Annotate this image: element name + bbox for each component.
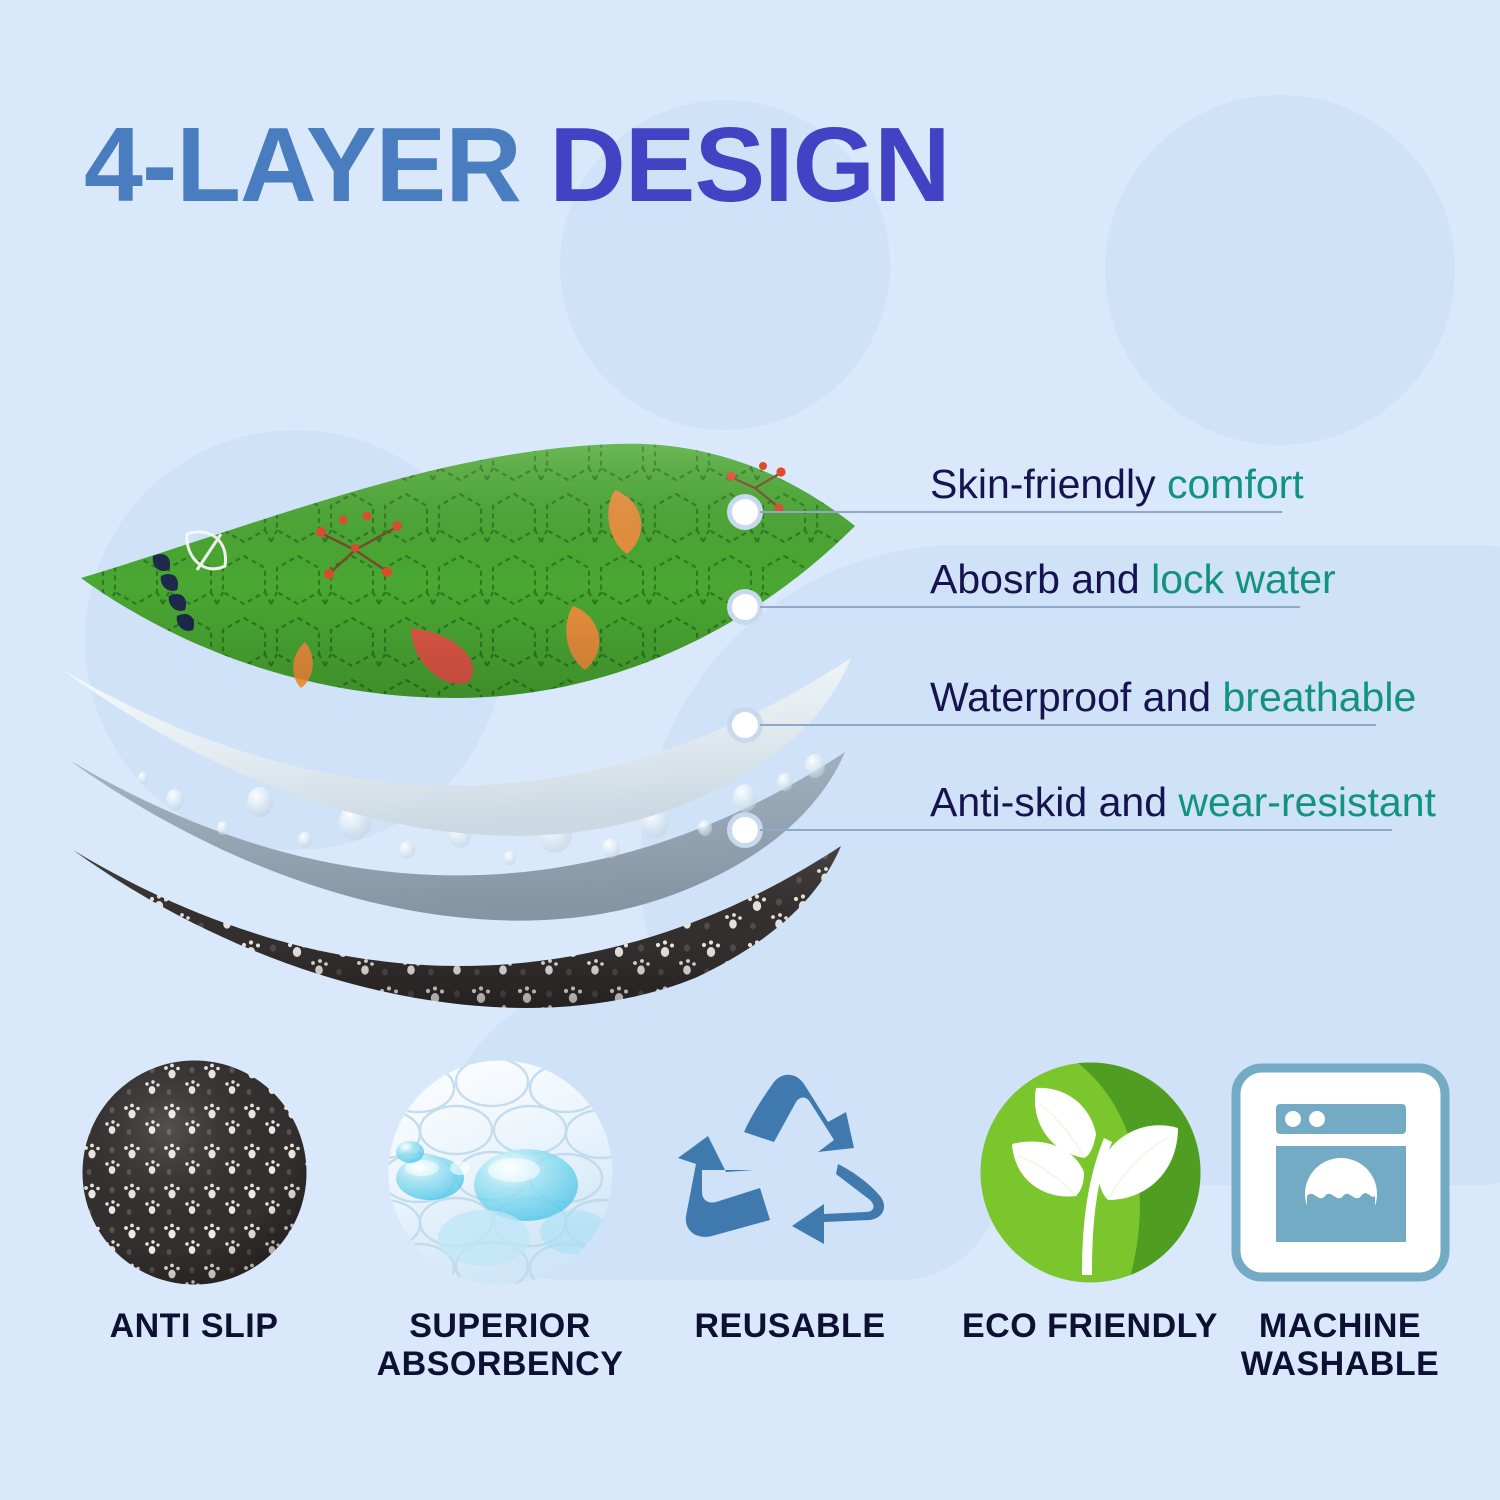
feature-label-anti-slip: ANTI SLIP [44,1307,344,1345]
callout-leader-3 [760,724,935,726]
callout-4-accent: wear-resistant [1178,779,1435,825]
callout-4-primary: Anti-skid and [930,779,1167,825]
callout-leader-2 [760,606,935,608]
absorbency-droplets-icon [388,1060,613,1285]
callout-1-primary: Skin-friendly [930,461,1156,507]
washing-machine-icon [1228,1060,1453,1285]
anti-slip-fabric-icon [82,1060,307,1285]
callout-1-accent: comfort [1167,461,1304,507]
feature-machine-washable: MACHINE WASHABLE [1190,1060,1490,1383]
callout-dot-4[interactable] [727,812,763,848]
callout-2-primary: Abosrb and [930,556,1140,602]
recycle-icon [678,1060,903,1285]
feature-anti-slip: ANTI SLIP [44,1060,344,1345]
callout-label-3: Waterproof and breathable [930,668,1376,726]
callout-label-1: Skin-friendly comfort [930,455,1290,513]
feature-absorbency: SUPERIOR ABSORBENCY [350,1060,650,1383]
feature-label-machine-washable: MACHINE WASHABLE [1190,1307,1490,1383]
callout-label-2: Abosrb and lock water [930,550,1300,608]
feature-label-reusable: REUSABLE [640,1307,940,1345]
feature-label-absorbency: SUPERIOR ABSORBENCY [350,1307,650,1383]
feature-row: ANTI SLIP [0,1060,1500,1440]
callout-dot-1[interactable] [727,494,763,530]
callout-dot-3[interactable] [727,707,763,743]
callout-label-4: Anti-skid and wear-resistant [930,773,1392,831]
callout-dot-2[interactable] [727,589,763,625]
callout-leader-1 [760,511,935,513]
infographic-canvas: 4-LAYER DESIGN [0,0,1500,1500]
callout-2-accent: lock water [1151,556,1336,602]
feature-reusable: REUSABLE [640,1060,940,1345]
callout-3-accent: breathable [1222,674,1416,720]
eco-leaf-icon [978,1060,1203,1285]
callout-leader-4 [760,829,935,831]
callout-3-primary: Waterproof and [930,674,1211,720]
